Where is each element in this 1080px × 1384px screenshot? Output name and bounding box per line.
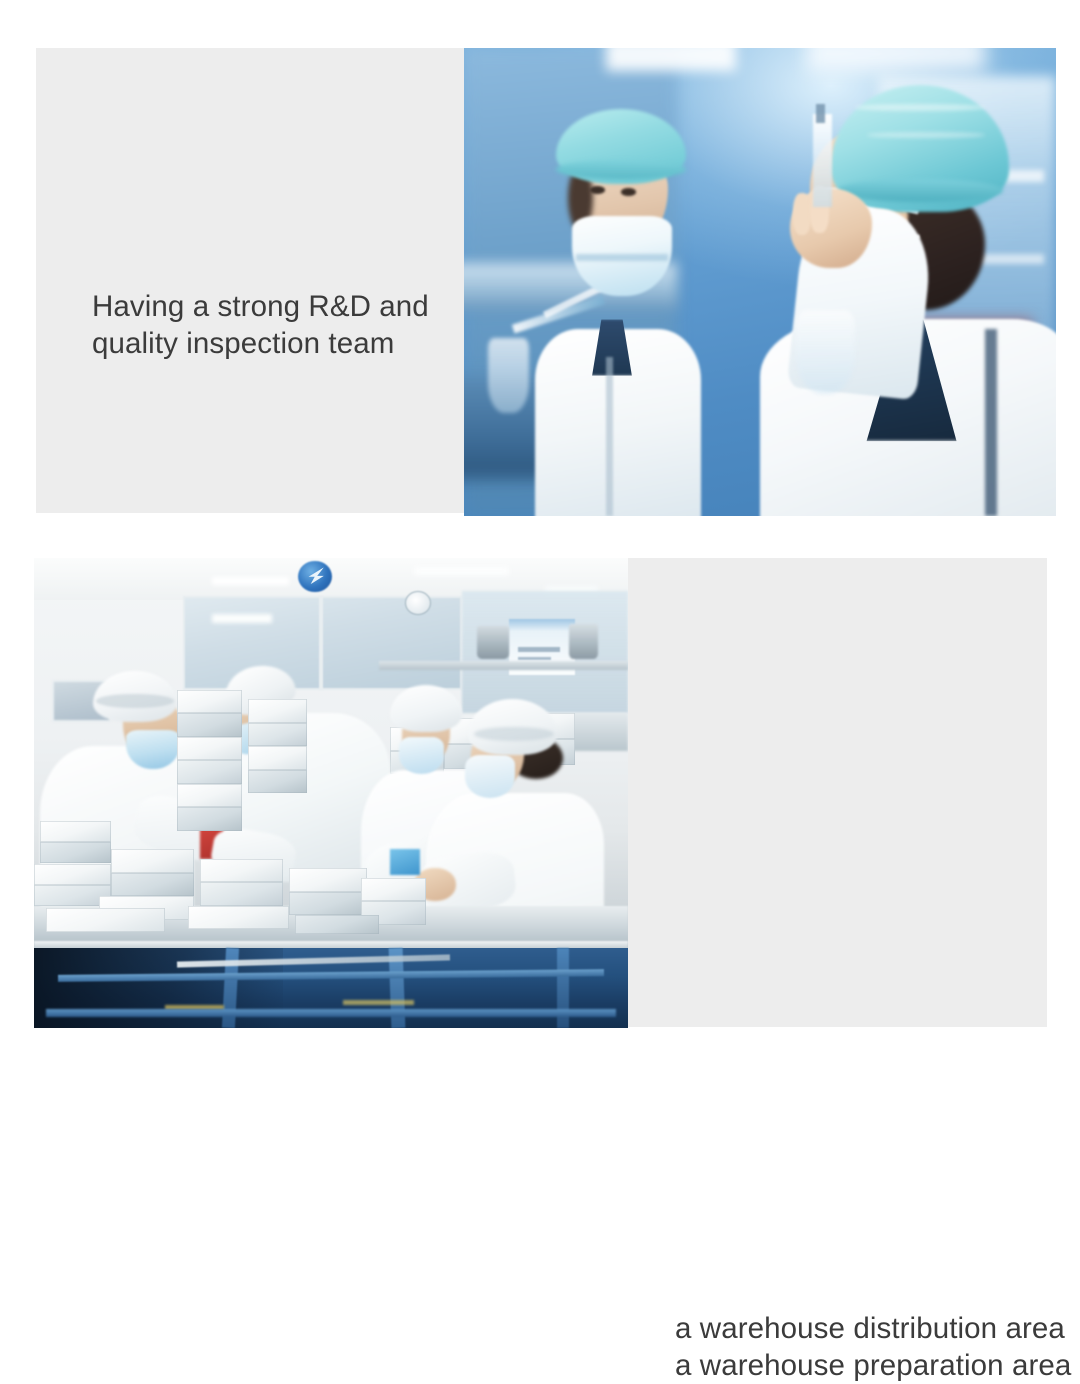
warehouse-packing-photo: [34, 558, 628, 1028]
lab-worker-left-hairnet-band: [556, 160, 686, 179]
lab-worker-left-mask-fold: [576, 254, 668, 261]
lab-worker-left-eye-right: [621, 188, 635, 195]
lab-sample-vial-tip: [816, 104, 825, 123]
lab-ceiling-light-left: [606, 48, 736, 71]
lab-finger-one: [793, 193, 812, 235]
box-stack-item: [111, 873, 194, 897]
warehouse-steel-canister-1: [477, 626, 509, 659]
lab-worker-right-hairnet-fold-lower: [867, 132, 985, 138]
top-gray-panel: Having a strong R&D and quality inspecti…: [36, 48, 513, 513]
box-stack-item: [40, 842, 111, 863]
warehouse-caption: a warehouse distribution area a warehous…: [675, 1310, 1075, 1384]
box-stack-item: [177, 784, 242, 808]
lab-ceiling-light-right: [807, 48, 985, 71]
box-stack-item: [177, 713, 242, 737]
warehouse-worker-d-face-mask: [465, 755, 515, 797]
lab-quality-inspection-photo: [464, 48, 1056, 516]
lab-sample-vial: [813, 114, 832, 208]
box-stack-item: [177, 737, 242, 761]
box-stack-item: [248, 699, 307, 723]
box-stack-item: [248, 770, 307, 794]
box-stack-item: [188, 906, 289, 930]
box-stack-item: [177, 690, 242, 714]
box-stack-item: [177, 760, 242, 784]
box-stack-item: [361, 878, 426, 902]
warehouse-steel-canister-2: [569, 624, 599, 659]
warehouse-window-reflection: [212, 614, 271, 622]
box-stack-item: [248, 746, 307, 770]
box-stack-item: [34, 864, 111, 885]
box-stack-item: [248, 723, 307, 747]
lab-worker-left-lapel: [606, 357, 613, 516]
box-stack-item: [295, 915, 378, 934]
box-stack-item: [111, 849, 194, 873]
box-stack-item: [200, 882, 283, 906]
box-stack-item: [46, 908, 165, 932]
warehouse-blue-package: [390, 849, 420, 875]
box-stack-item: [289, 868, 366, 892]
lab-worker-left-eye-left: [590, 186, 605, 194]
lab-beaker: [488, 338, 529, 413]
lab-flask: [796, 310, 855, 394]
box-stack-item: [289, 892, 366, 916]
warehouse-notice-text-line-1: [518, 647, 560, 651]
rnd-quality-caption: Having a strong R&D and quality inspecti…: [92, 288, 492, 362]
lab-worker-right-hairnet-fold-upper: [855, 104, 985, 111]
warehouse-window-mullion: [319, 596, 323, 690]
warehouse-notice-text-line-2: [518, 657, 551, 661]
warehouse-ceiling-light-2: [414, 567, 509, 575]
warehouse-table-rail-lower: [46, 1009, 616, 1017]
box-stack-item: [177, 807, 242, 831]
page-canvas: Having a strong R&D and quality inspecti…: [0, 0, 1080, 1080]
warehouse-ceiling-light-1: [212, 577, 289, 585]
warehouse-wall-shelf: [379, 661, 628, 669]
warehouse-floor-marking-2: [343, 1000, 414, 1005]
box-stack-item: [200, 859, 283, 883]
lab-worker-right-lapel: [985, 329, 997, 516]
box-stack-item: [40, 821, 111, 842]
warehouse-worker-c-face-mask: [399, 737, 444, 775]
